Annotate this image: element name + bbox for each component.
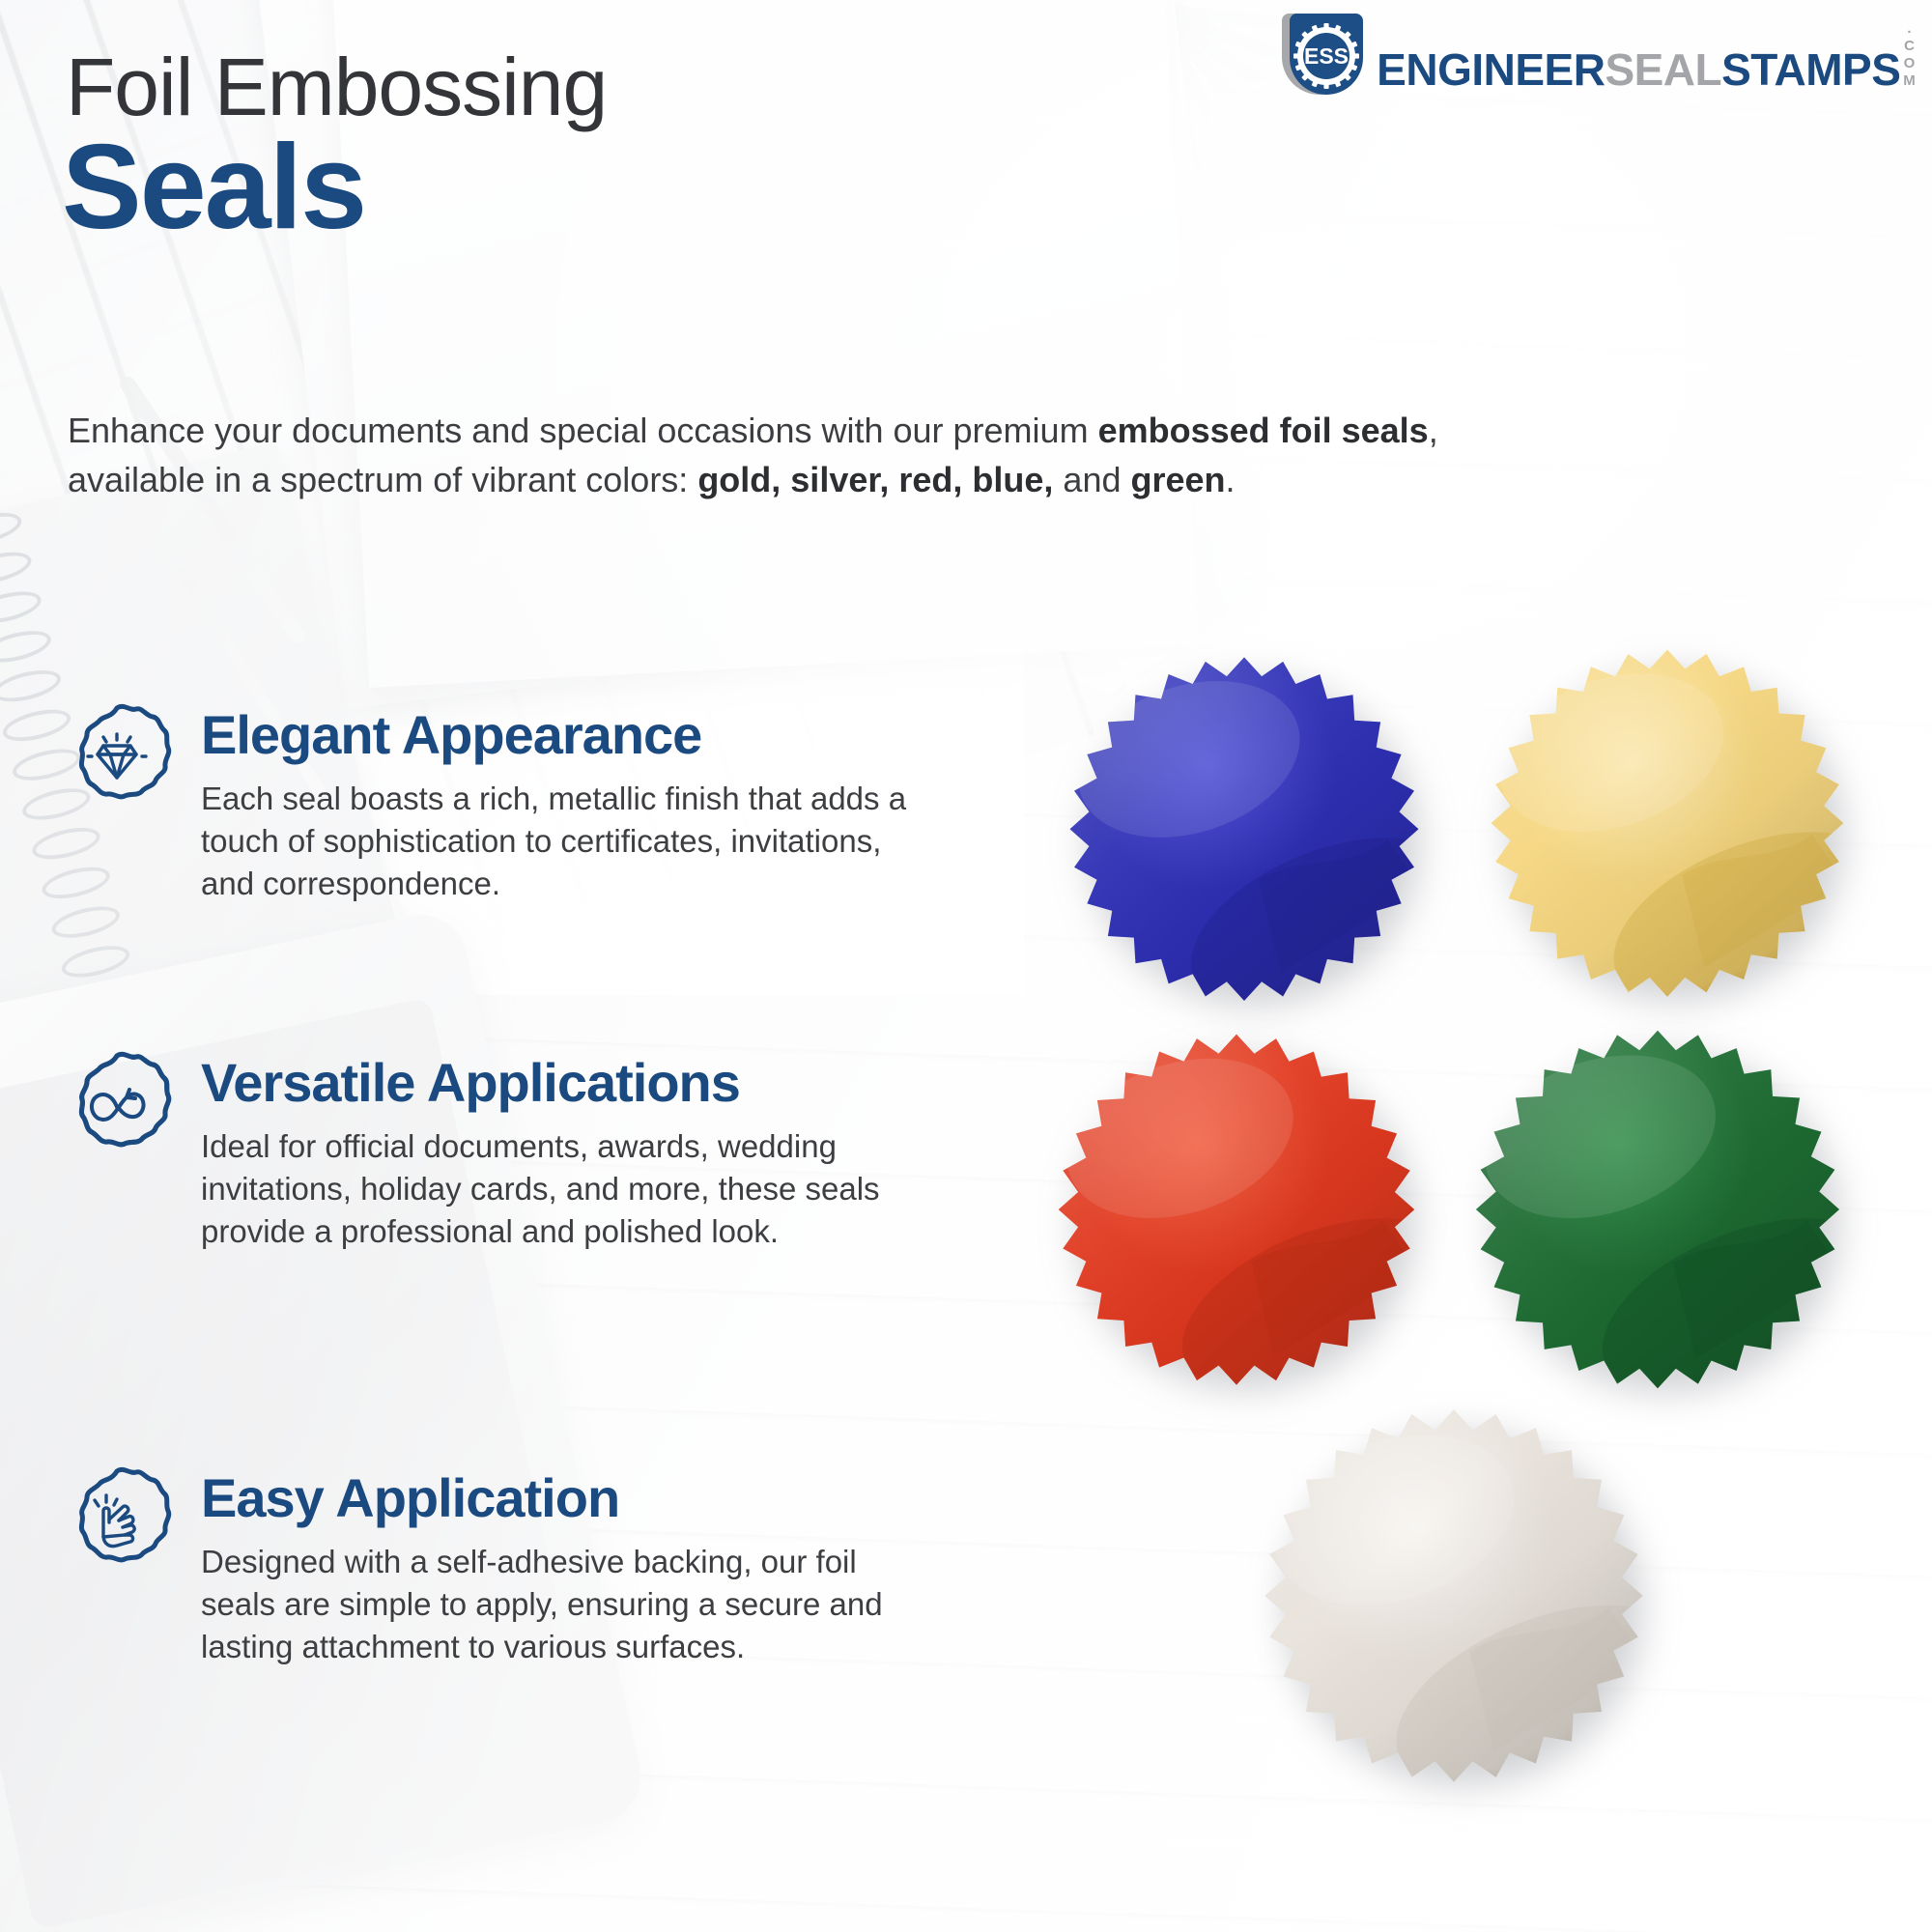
tap-hand-badge-icon bbox=[60, 1464, 174, 1578]
wordmark-tld: .COM bbox=[1902, 20, 1915, 90]
foil-seal-red bbox=[1049, 1026, 1424, 1401]
intro-text-3: and bbox=[1053, 460, 1130, 499]
brand-logo[interactable]: ESS ENGINEERSEALSTAMPS.COM bbox=[1282, 14, 1915, 99]
intro-paragraph: Enhance your documents and special occas… bbox=[68, 406, 1459, 504]
feature-description: Designed with a self-adhesive backing, o… bbox=[201, 1541, 929, 1668]
feature-easy-application: Easy Application Designed with a self-ad… bbox=[60, 1464, 929, 1668]
infographic-page: ESS ENGINEERSEALSTAMPS.COM Foil Embossin… bbox=[0, 0, 1932, 1932]
ess-monogram: ESS bbox=[1304, 43, 1349, 69]
feature-description: Ideal for official documents, awards, we… bbox=[201, 1125, 929, 1253]
intro-text-4: . bbox=[1226, 460, 1236, 499]
foil-seal-gold bbox=[1480, 641, 1855, 1012]
intro-bold-seals: embossed foil seals bbox=[1098, 411, 1429, 450]
feature-versatile-applications: Versatile Applications Ideal for officia… bbox=[60, 1049, 929, 1253]
feature-elegant-appearance: Elegant Appearance Each seal boasts a ri… bbox=[60, 701, 929, 905]
wordmark-stamps: STAMPS bbox=[1721, 47, 1900, 92]
brand-wordmark: ENGINEERSEALSTAMPS.COM bbox=[1377, 20, 1915, 92]
wordmark-engineer: ENGINEER bbox=[1377, 47, 1605, 92]
foil-seal-green bbox=[1464, 1022, 1851, 1405]
infinity-badge-icon bbox=[60, 1049, 174, 1163]
foil-seal-silver bbox=[1252, 1401, 1656, 1799]
intro-bold-colors: gold, silver, red, blue, bbox=[697, 460, 1053, 499]
page-title-line-1: Foil Embossing bbox=[66, 46, 607, 128]
page-title-line-2: Seals bbox=[62, 128, 365, 247]
feature-description: Each seal boasts a rich, metallic finish… bbox=[201, 778, 929, 905]
feature-title: Easy Application bbox=[201, 1470, 929, 1525]
feature-title: Elegant Appearance bbox=[201, 707, 929, 762]
wordmark-seal: SEAL bbox=[1605, 47, 1721, 92]
feature-title: Versatile Applications bbox=[201, 1055, 929, 1110]
intro-bold-green: green bbox=[1131, 460, 1226, 499]
diamond-badge-icon bbox=[60, 701, 174, 815]
ess-shield-icon: ESS bbox=[1282, 14, 1363, 99]
foil-seal-blue bbox=[1059, 649, 1430, 1016]
intro-text-1: Enhance your documents and special occas… bbox=[68, 411, 1098, 450]
